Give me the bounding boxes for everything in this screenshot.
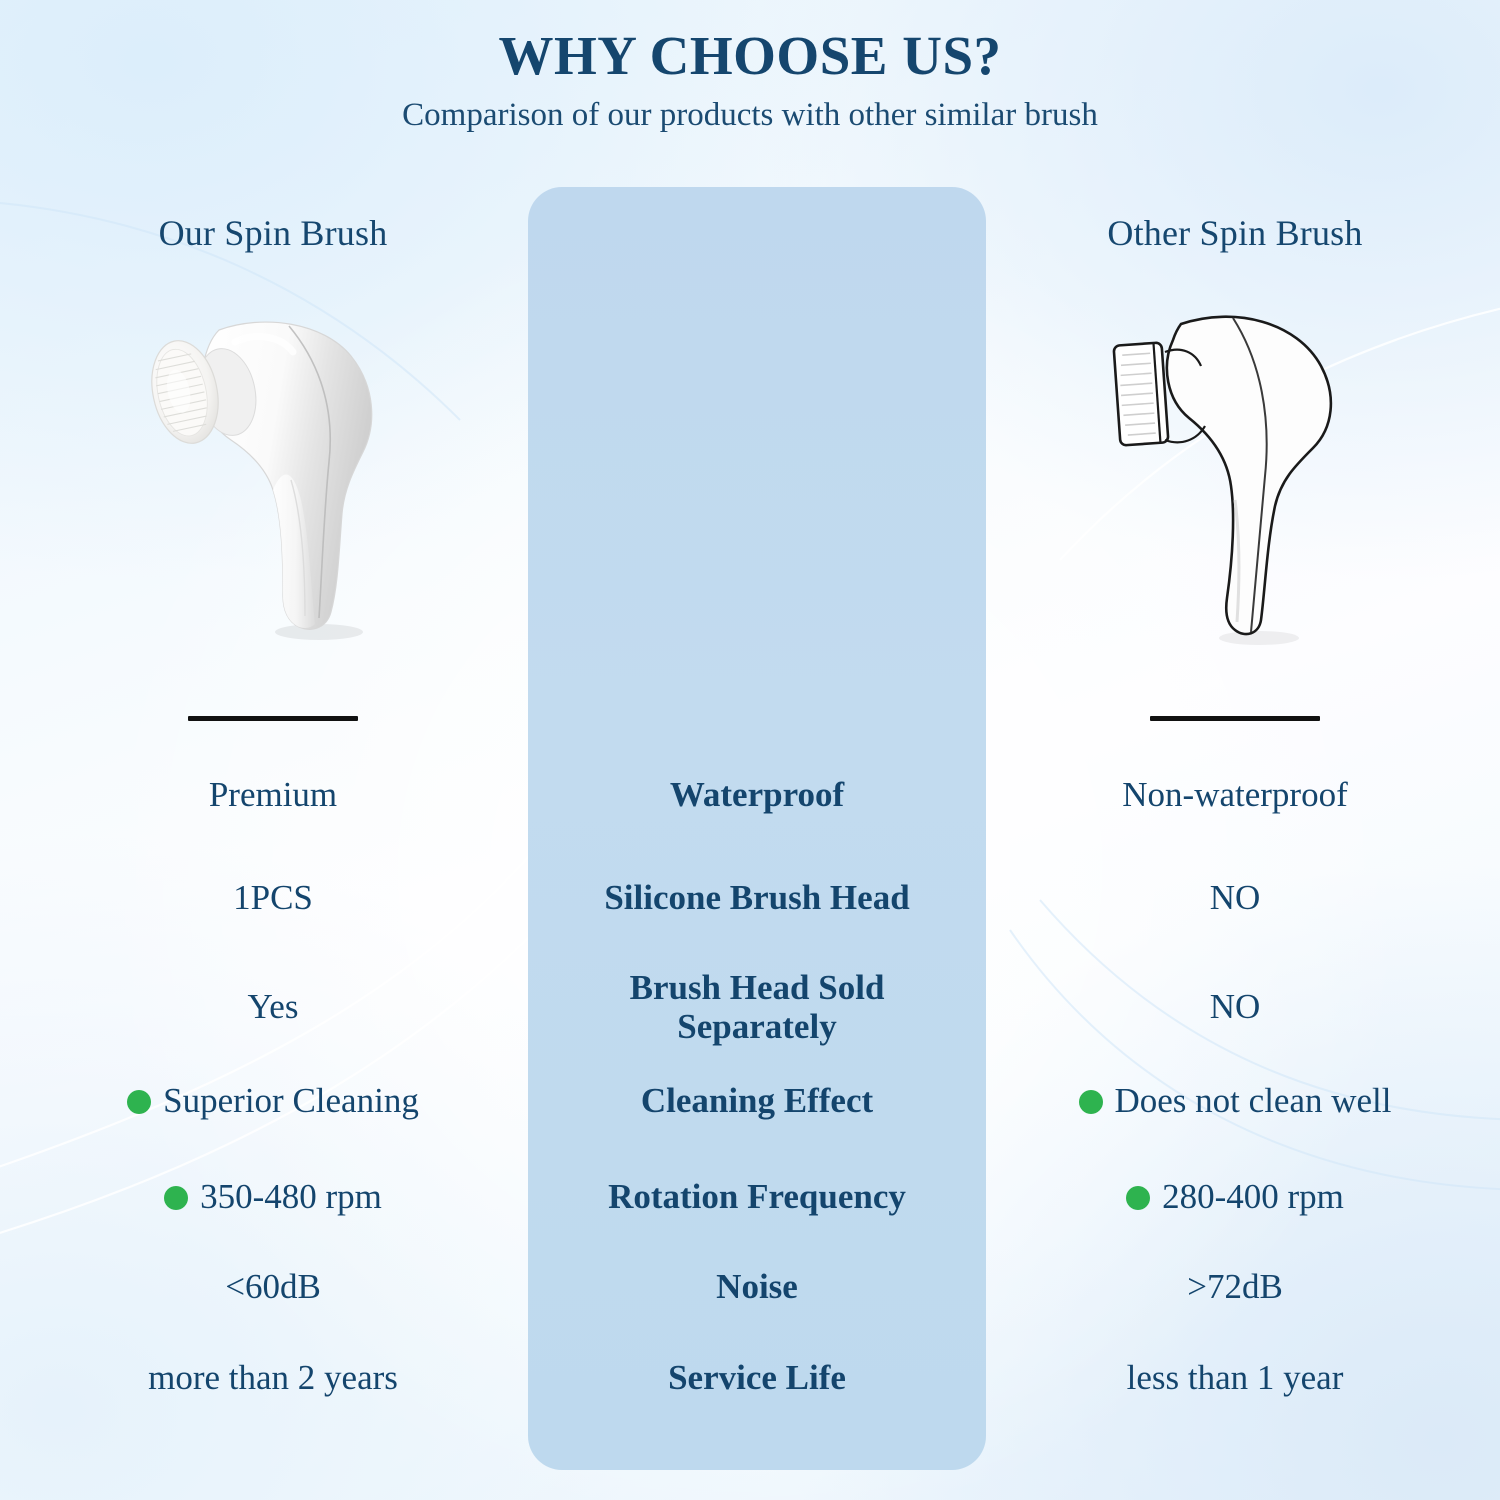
feature-row: Silicone Brush Head: [522, 870, 992, 926]
value-row: more than 2 years: [38, 1350, 508, 1406]
column-our-brush: Our Spin Brush: [38, 0, 508, 1500]
column-heading-other-brush: Other Spin Brush: [1000, 212, 1470, 254]
infographic-canvas: WHY CHOOSE US? Comparison of our product…: [0, 0, 1500, 1500]
value-row: <60dB: [38, 1259, 508, 1315]
value-row: Does not clean well: [1000, 1073, 1470, 1129]
value-text: NO: [1210, 878, 1261, 917]
feature-row: Rotation Frequency: [522, 1169, 992, 1225]
value-row: Non-waterproof: [1000, 767, 1470, 823]
value-text: NO: [1210, 987, 1261, 1026]
feature-text: Silicone Brush Head: [604, 878, 909, 917]
feature-text: Brush Head Sold Separately: [630, 968, 885, 1046]
value-text: Does not clean well: [1115, 1081, 1392, 1120]
value-text: 280-400 rpm: [1162, 1177, 1344, 1216]
value-text: Non-waterproof: [1122, 775, 1347, 814]
value-row: Premium: [38, 767, 508, 823]
value-row: NO: [1000, 870, 1470, 926]
feature-row: Noise: [522, 1259, 992, 1315]
value-text: <60dB: [225, 1267, 321, 1306]
column-other-brush: Other Spin Brush: [1000, 0, 1470, 1500]
feature-row: Brush Head Sold Separately: [522, 961, 992, 1053]
feature-text: Waterproof: [670, 775, 844, 814]
column-features: Waterproof Silicone Brush Head Brush Hea…: [522, 0, 992, 1500]
value-row: >72dB: [1000, 1259, 1470, 1315]
column-divider-left: [188, 716, 358, 721]
value-text: Premium: [209, 775, 337, 814]
feature-row: Waterproof: [522, 767, 992, 823]
value-row: less than 1 year: [1000, 1350, 1470, 1406]
value-row: NO: [1000, 961, 1470, 1053]
value-row: 280-400 rpm: [1000, 1169, 1470, 1225]
our-spin-brush-image: [38, 300, 508, 690]
bullet-dot-icon: [164, 1186, 188, 1210]
feature-text: Cleaning Effect: [641, 1081, 873, 1120]
bullet-dot-icon: [1126, 1186, 1150, 1210]
value-row: Superior Cleaning: [38, 1073, 508, 1129]
value-text: >72dB: [1187, 1267, 1283, 1306]
feature-text: Service Life: [668, 1358, 846, 1397]
value-text: Superior Cleaning: [163, 1081, 419, 1120]
feature-row: Service Life: [522, 1350, 992, 1406]
value-text: more than 2 years: [148, 1358, 398, 1397]
column-divider-right: [1150, 716, 1320, 721]
value-text: 1PCS: [233, 878, 313, 917]
bullet-dot-icon: [1079, 1090, 1103, 1114]
value-text: Yes: [248, 987, 299, 1026]
feature-text: Rotation Frequency: [608, 1177, 906, 1216]
value-row: 1PCS: [38, 870, 508, 926]
value-row: 350-480 rpm: [38, 1169, 508, 1225]
value-row: Yes: [38, 961, 508, 1053]
feature-row: Cleaning Effect: [522, 1073, 992, 1129]
column-heading-our-brush: Our Spin Brush: [38, 212, 508, 254]
value-text: 350-480 rpm: [200, 1177, 382, 1216]
bullet-dot-icon: [127, 1090, 151, 1114]
other-spin-brush-image: [1000, 300, 1470, 690]
value-text: less than 1 year: [1127, 1358, 1344, 1397]
feature-text: Noise: [716, 1267, 798, 1306]
